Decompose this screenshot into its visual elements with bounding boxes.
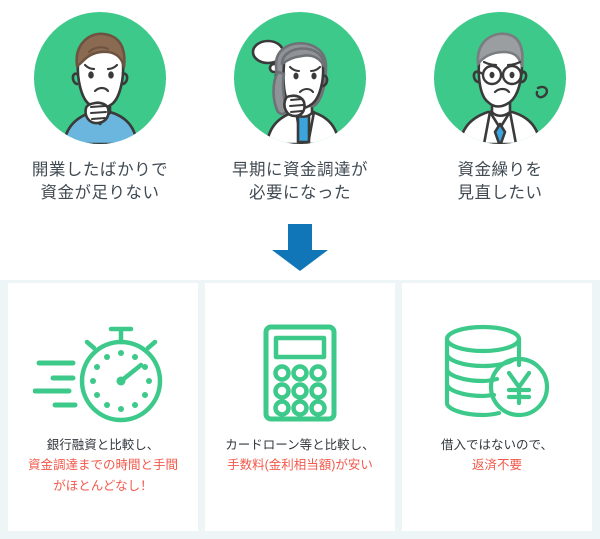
worried-young-man-avatar-icon (34, 12, 166, 144)
benefit-caption-3: 借入ではないので、 返済不要 (435, 435, 559, 476)
persona-caption: 開業したばかりで 資金が足りない (32, 158, 168, 205)
calculator-icon (248, 321, 352, 425)
persona-item-3: 資金繰りを 見直したい (400, 12, 600, 215)
benefit-highlight-line-1: 資金調達までの時間と手間 (28, 455, 178, 475)
benefit-highlight-line-2: がほとんどなし！ (28, 476, 178, 496)
benefit-highlight-line-1: 手数料(金利相当額)が安い (225, 455, 374, 475)
benefit-caption-1: 銀行融資と比較し、 資金調達までの時間と手間 がほとんどなし！ (22, 435, 184, 496)
coin-stack-yen-icon (439, 321, 555, 425)
benefit-card-row: 銀行融資と比較し、 資金調達までの時間と手間 がほとんどなし！ (0, 280, 600, 539)
persona-item-1: 開業したばかりで 資金が足りない (0, 12, 200, 215)
worried-woman-thinking-avatar-icon (234, 12, 366, 144)
persona-item-2: 早期に資金調達が 必要になった (200, 12, 400, 215)
benefit-lead-text: カードローン等と比較し、 (225, 435, 374, 455)
persona-caption: 資金繰りを 見直したい (458, 158, 543, 205)
benefit-highlight-line-1: 返済不要 (441, 455, 553, 475)
benefit-caption-2: カードローン等と比較し、 手数料(金利相当額)が安い (219, 435, 380, 476)
persona-caption: 早期に資金調達が 必要になった (232, 158, 368, 205)
benefit-lead-text: 銀行融資と比較し、 (28, 435, 178, 455)
stopwatch-speed-icon (33, 321, 173, 425)
benefit-lead-text: 借入ではないので、 (441, 435, 553, 455)
benefit-card-2: カードローン等と比較し、 手数料(金利相当額)が安い (205, 283, 395, 531)
persona-row: 開業したばかりで 資金が足りない (0, 0, 600, 215)
down-arrow-icon (272, 224, 328, 271)
benefit-card-3: 借入ではないので、 返済不要 (402, 283, 592, 531)
arrow-band (0, 215, 600, 280)
worried-older-businessman-avatar-icon (434, 12, 566, 144)
benefit-card-1: 銀行融資と比較し、 資金調達までの時間と手間 がほとんどなし！ (8, 283, 198, 531)
